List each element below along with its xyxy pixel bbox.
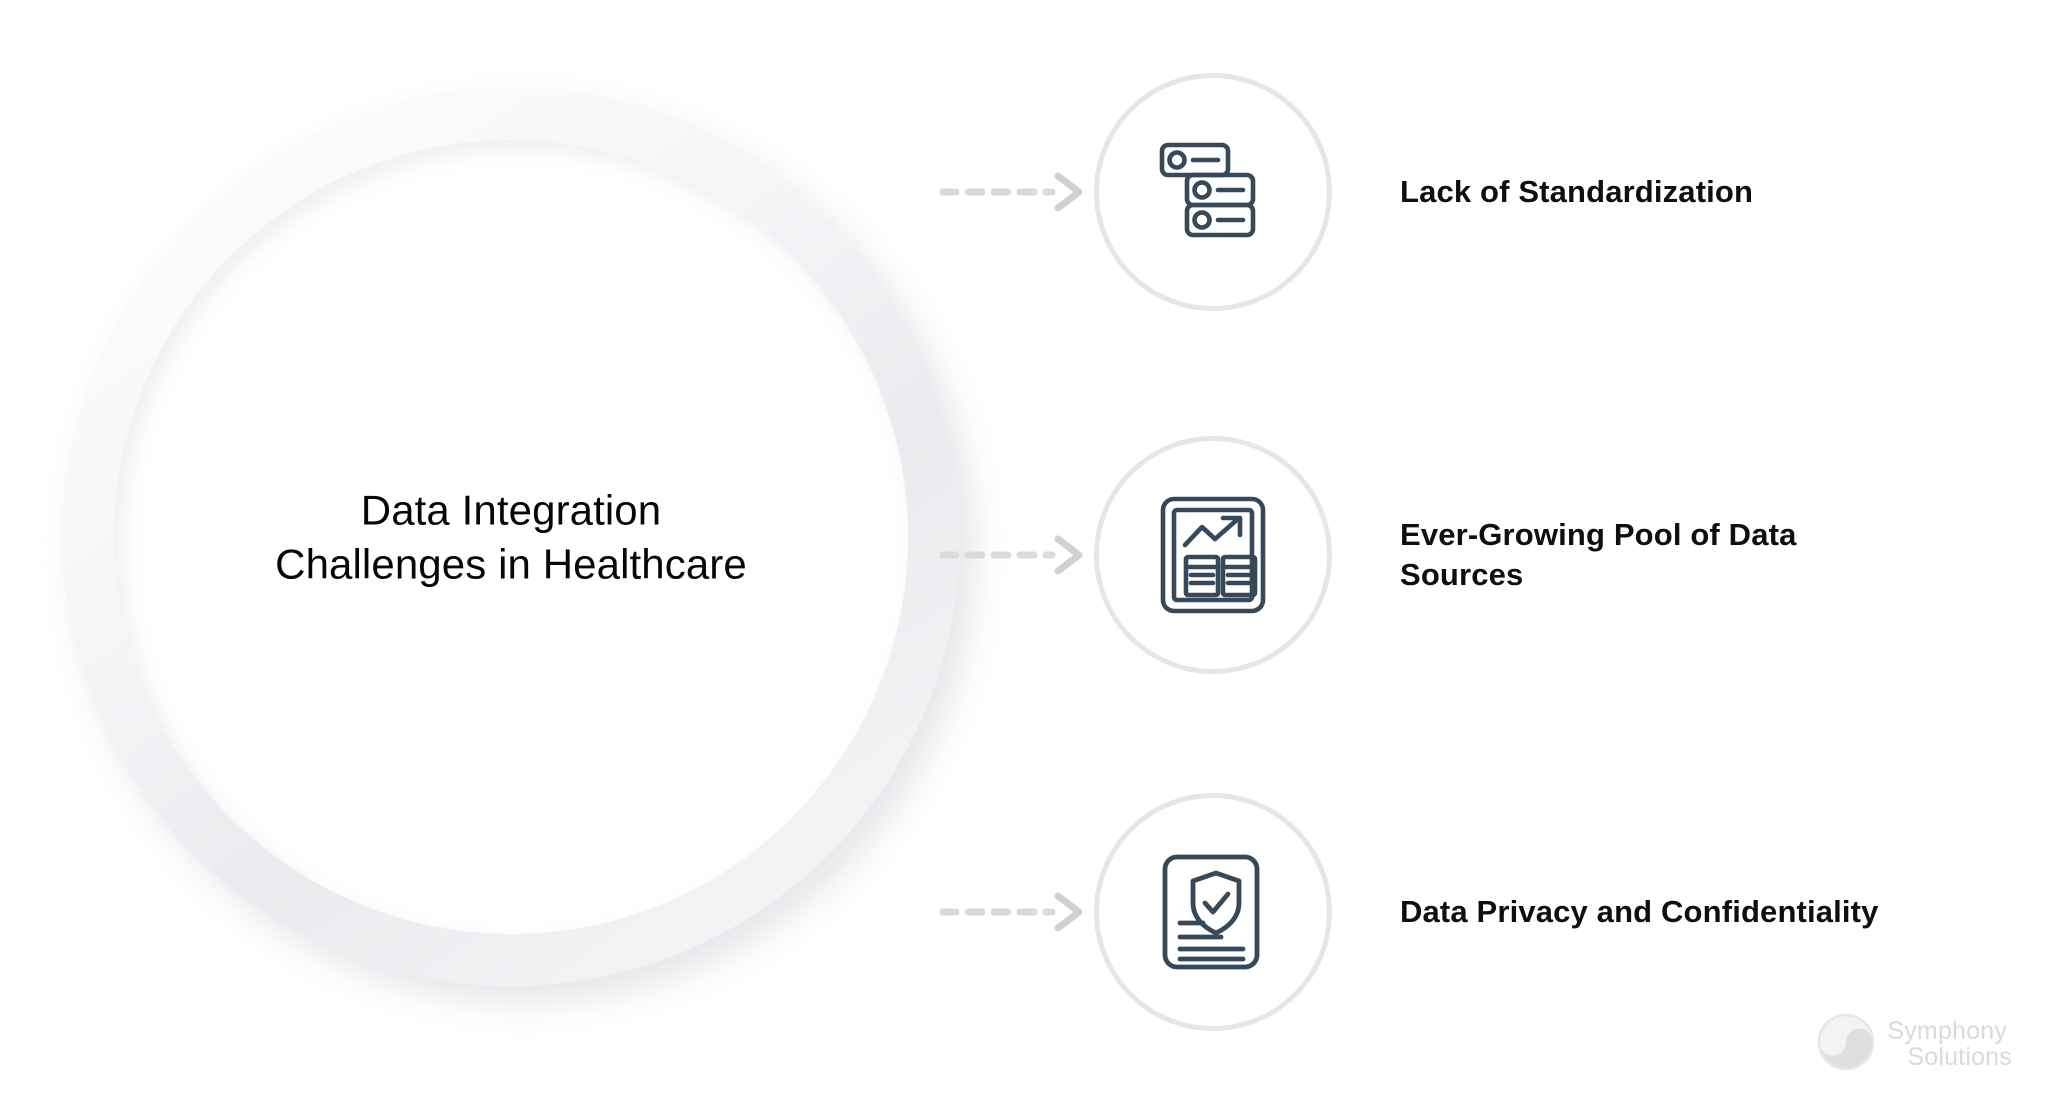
item-row-1: Lack of Standardization bbox=[940, 62, 1960, 322]
icon-bubble-2 bbox=[1094, 436, 1332, 674]
item-label-3: Data Privacy and Confidentiality bbox=[1400, 892, 1920, 932]
item-label-1: Lack of Standardization bbox=[1400, 172, 1920, 212]
icon-bubble-1 bbox=[1094, 73, 1332, 311]
dashed-arrow-right-icon-3 bbox=[940, 890, 1090, 934]
symphony-swirl-logo-icon bbox=[1815, 1011, 1877, 1078]
report-trend-chart-icon bbox=[1157, 493, 1269, 617]
brand-logo: Symphony Solutions bbox=[1815, 1011, 2012, 1078]
item-label-2-line-1: Ever-Growing Pool of Data bbox=[1400, 517, 1796, 552]
item-row-2: Ever-Growing Pool of Data Sources bbox=[940, 425, 1960, 685]
server-stack-icon bbox=[1154, 133, 1272, 251]
item-label-1-line-1: Lack of Standardization bbox=[1400, 174, 1753, 209]
brand-name: Symphony Solutions bbox=[1887, 1019, 2012, 1070]
dashed-arrow-right-icon-2 bbox=[940, 533, 1090, 577]
item-label-2: Ever-Growing Pool of Data Sources bbox=[1400, 515, 1920, 596]
hub-circle: Data Integration Challenges in Healthcar… bbox=[62, 88, 960, 986]
item-label-2-line-2: Sources bbox=[1400, 557, 1523, 592]
item-row-3: Data Privacy and Confidentiality bbox=[940, 782, 1960, 1042]
hub-title-line-1: Data Integration bbox=[151, 483, 871, 537]
icon-bubble-3 bbox=[1094, 793, 1332, 1031]
item-label-3-line-2: Confidentiality bbox=[1661, 894, 1879, 929]
item-label-3-line-1: Data Privacy and bbox=[1400, 894, 1652, 929]
hub-title: Data Integration Challenges in Healthcar… bbox=[151, 483, 871, 591]
brand-name-line-2: Solutions bbox=[1887, 1045, 2012, 1071]
brand-name-line-1: Symphony bbox=[1887, 1019, 2012, 1045]
infographic-canvas: Data Integration Challenges in Healthcar… bbox=[0, 0, 2048, 1096]
document-shield-check-icon bbox=[1159, 851, 1267, 973]
hub-title-line-2: Challenges in Healthcare bbox=[151, 537, 871, 591]
dashed-arrow-right-icon-1 bbox=[940, 170, 1090, 214]
